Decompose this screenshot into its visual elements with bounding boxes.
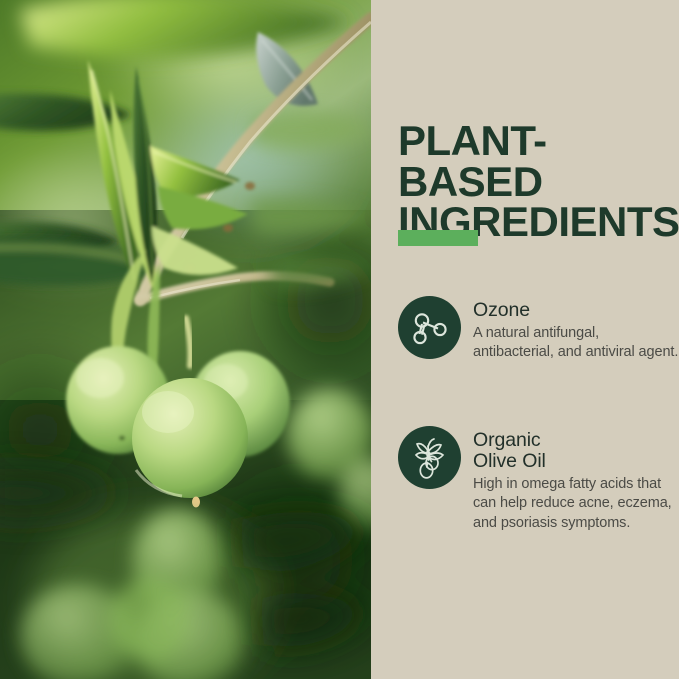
content-panel: Plant-Based Ingredients Ozone [371,0,679,679]
feature-title-olive-oil: Organic Olive Oil [473,430,679,472]
accent-bar [398,230,478,246]
feature-title-ozone: Ozone [473,300,679,321]
feature-description-ozone: A natural antifungal, antibacterial, and… [473,324,679,363]
feature-text-ozone: Ozone A natural antifungal, antibacteria… [473,296,679,363]
olive-branch-icon [398,426,461,489]
ozone-molecule-icon [398,296,461,359]
feature-text-olive-oil: Organic Olive Oil High in omega fatty ac… [473,426,679,533]
ingredients-poster: Plant-Based Ingredients Ozone [0,0,679,679]
feature-item-ozone: Ozone A natural antifungal, antibacteria… [398,296,679,363]
feature-description-olive-oil: High in omega fatty acids that can help … [473,475,679,533]
olive-branch-photo [0,0,371,679]
page-title: Plant-Based Ingredients [398,121,679,243]
feature-item-olive-oil: Organic Olive Oil High in omega fatty ac… [398,426,679,533]
